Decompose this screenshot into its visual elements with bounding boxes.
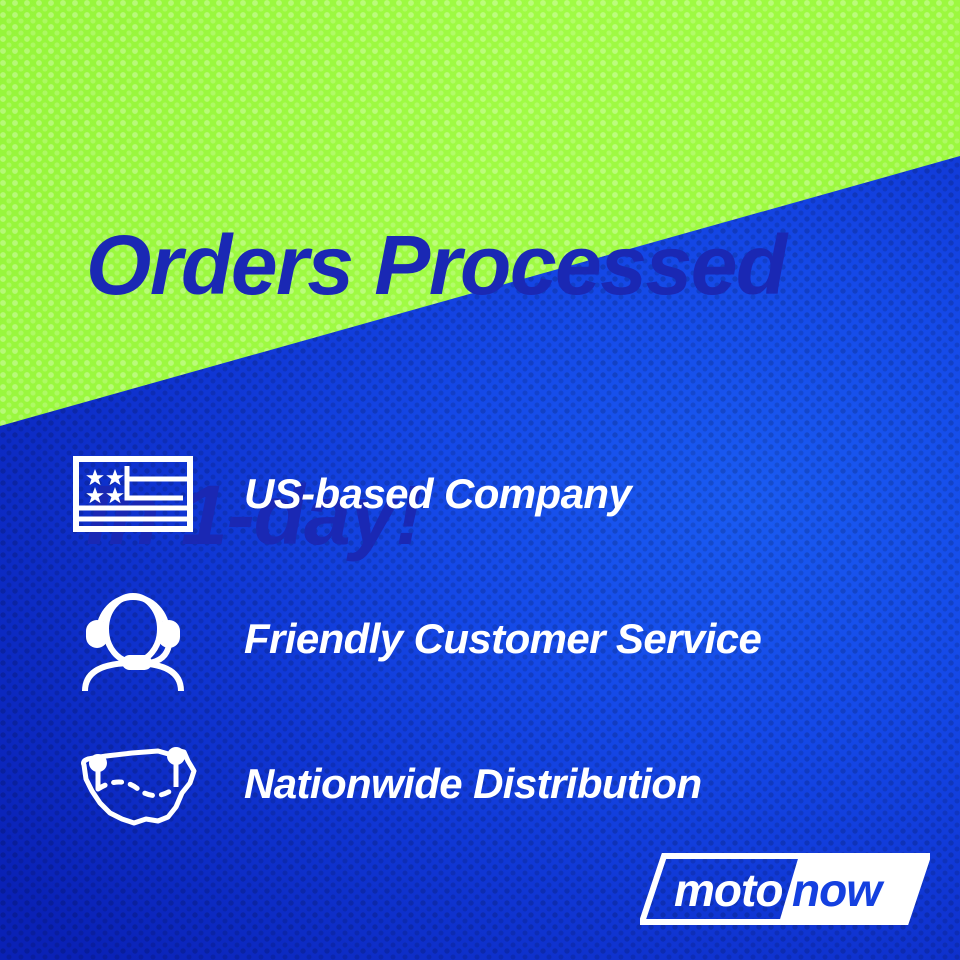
- motonow-logo[interactable]: moto now: [640, 852, 930, 926]
- us-flag-icon: [72, 442, 204, 546]
- feature-list: US-based Company: [72, 440, 932, 875]
- promo-graphic: Orders Processed In 1-day!: [0, 0, 960, 960]
- headline-line-1: Orders Processed: [86, 224, 926, 307]
- logo-text-now: now: [792, 864, 885, 916]
- feature-item-customer-service: Friendly Customer Service: [72, 585, 932, 693]
- feature-label-nationwide: Nationwide Distribution: [244, 760, 702, 808]
- logo-text-moto: moto: [674, 864, 782, 916]
- feature-item-nationwide: Nationwide Distribution: [72, 730, 932, 838]
- feature-item-us-based: US-based Company: [72, 440, 932, 548]
- headset-support-agent-icon: [72, 587, 204, 691]
- feature-label-us-based: US-based Company: [244, 470, 631, 518]
- feature-label-customer-service: Friendly Customer Service: [244, 615, 761, 663]
- us-map-route-pins-icon: [72, 732, 204, 836]
